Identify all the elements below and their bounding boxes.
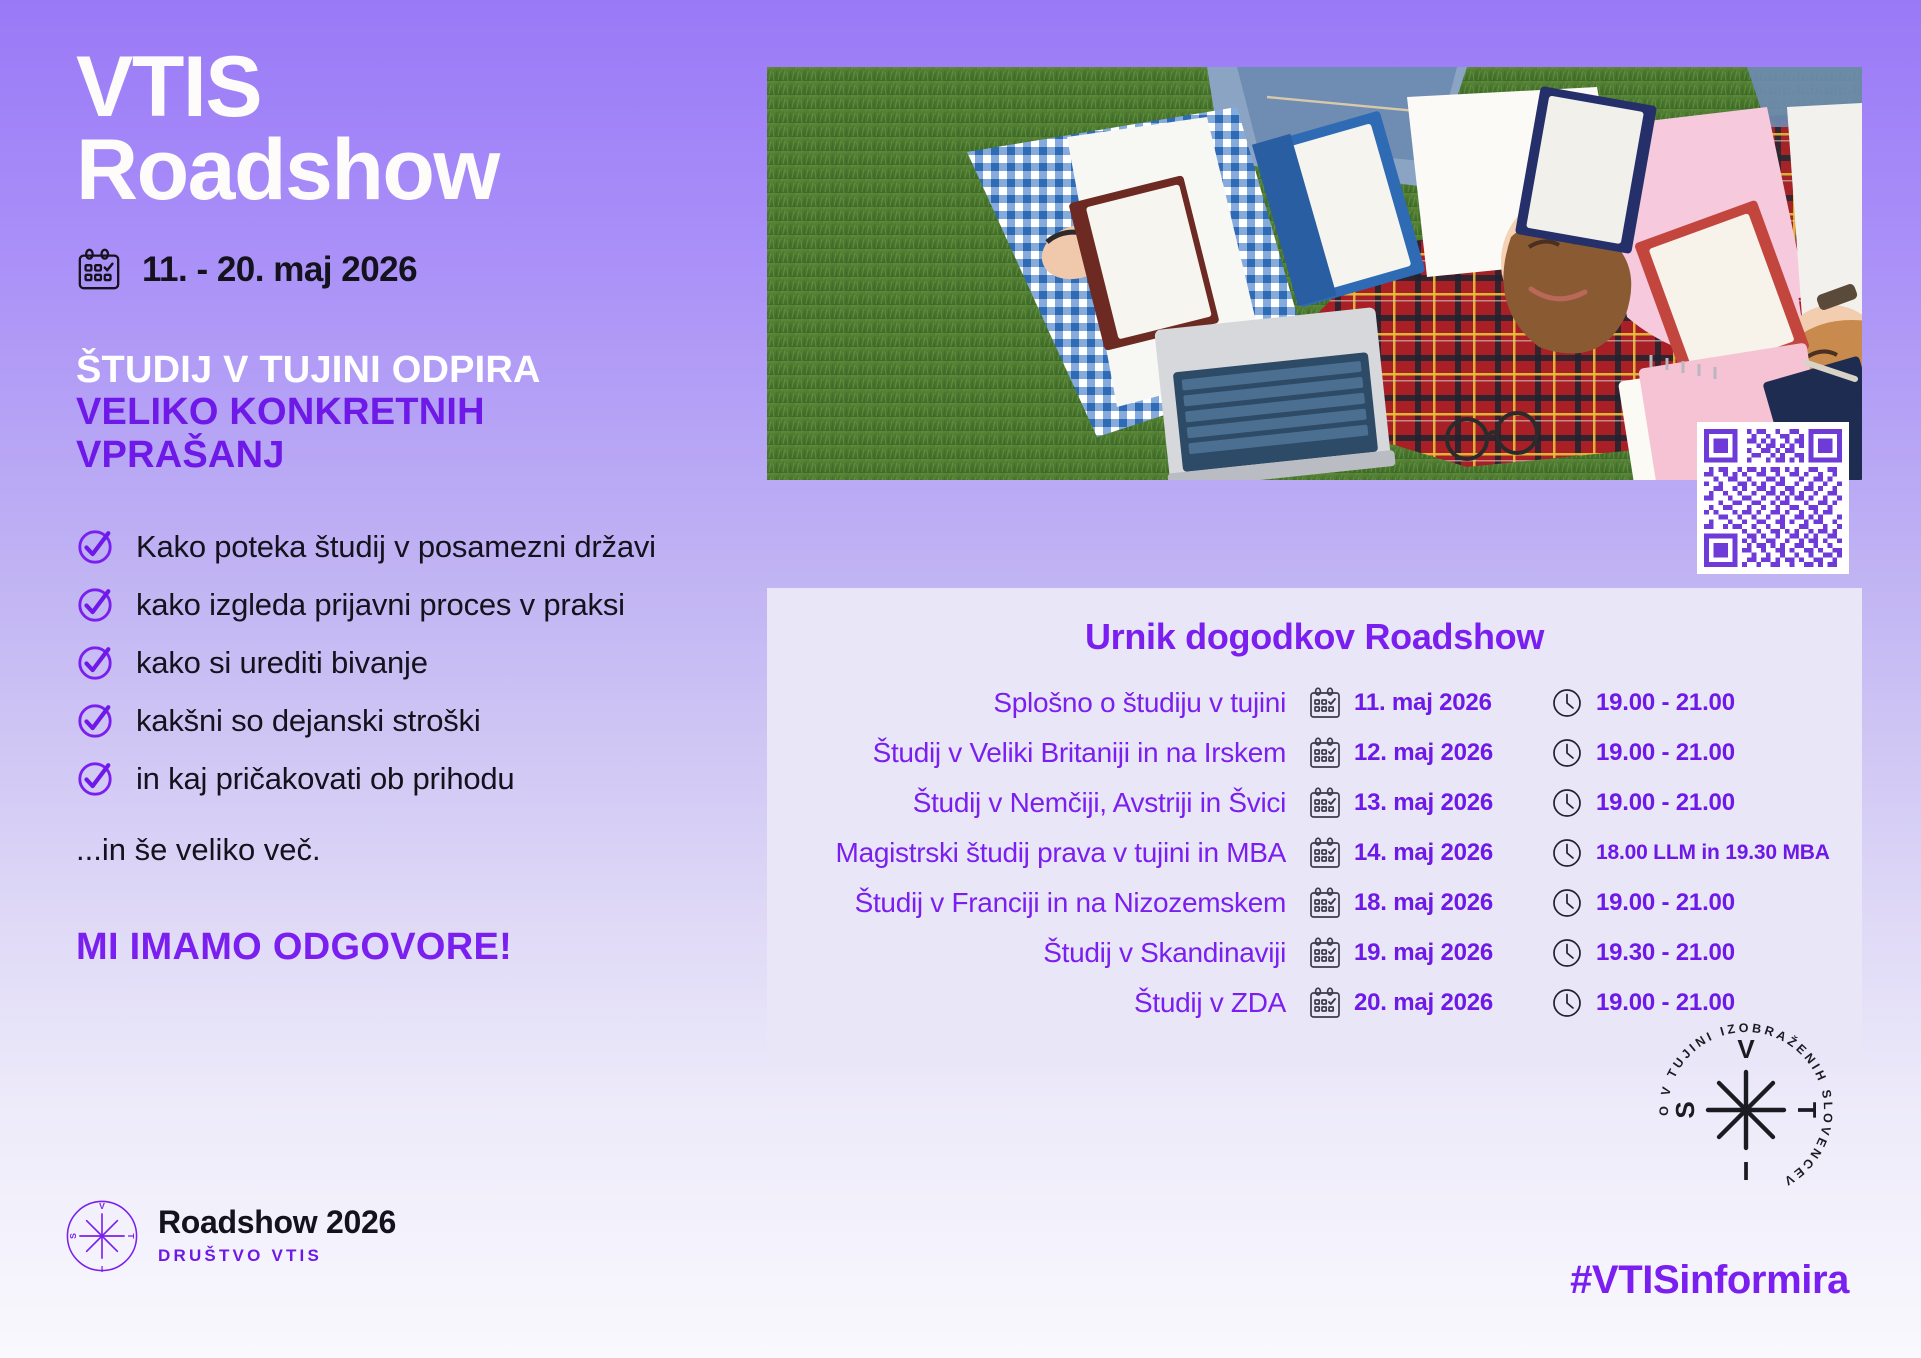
kicker-line-1: ŠTUDIJ V TUJINI ODPIRA (76, 349, 756, 392)
table-row: Študij v Franciji in na Nizozemskem 18. … (767, 878, 1862, 928)
calendar-icon (1308, 986, 1342, 1020)
svg-text:S: S (68, 1233, 78, 1239)
svg-text:I: I (1742, 1156, 1749, 1186)
event-time-cell: 19.00 - 21.00 (1550, 686, 1826, 720)
list-item-label: kakšni so dejanski stroški (136, 703, 481, 739)
event-time: 19.30 - 21.00 (1596, 939, 1735, 967)
clock-icon (1550, 786, 1584, 820)
table-row: Študij v Nemčiji, Avstriji in Švici 13. … (767, 778, 1862, 828)
date-range-label: 11. - 20. maj 2026 (142, 250, 417, 290)
more-text: ...in še veliko več. (76, 832, 756, 868)
check-circle-icon (76, 702, 114, 740)
svg-text:T: T (126, 1233, 136, 1239)
calendar-icon (1308, 786, 1342, 820)
event-date-cell: 20. maj 2026 (1308, 986, 1540, 1020)
event-date: 18. maj 2026 (1354, 889, 1493, 917)
roadshow-label: Roadshow 2026 (158, 1206, 396, 1240)
date-range-row: 11. - 20. maj 2026 (76, 247, 756, 293)
calendar-icon (76, 247, 122, 293)
calendar-icon (1308, 686, 1342, 720)
event-date: 20. maj 2026 (1354, 989, 1493, 1017)
vtis-compass-logo-icon: V T I S (54, 1188, 150, 1284)
event-time-cell: 19.00 - 21.00 (1550, 736, 1826, 770)
event-date: 13. maj 2026 (1354, 789, 1493, 817)
event-date: 12. maj 2026 (1354, 739, 1493, 767)
list-item: kako si urediti bivanje (76, 644, 756, 682)
event-time: 19.00 - 21.00 (1596, 889, 1735, 917)
table-row: Magistrski študij prava v tujini in MBA … (767, 828, 1862, 878)
hashtag-label: #VTISinformira (1570, 1258, 1849, 1303)
check-circle-icon (76, 528, 114, 566)
org-label: DRUŠTVO VTIS (158, 1246, 396, 1266)
title-line-1: VTIS (76, 39, 261, 135)
event-name: Magistrski študij prava v tujini in MBA (836, 837, 1286, 869)
list-item: in kaj pričakovati ob prihodu (76, 760, 756, 798)
schedule-rows: Splošno o študiju v tujini 11. maj 2026 (767, 678, 1862, 1028)
event-date-cell: 14. maj 2026 (1308, 836, 1540, 870)
event-time: 19.00 - 21.00 (1596, 739, 1735, 767)
clock-icon (1550, 736, 1584, 770)
check-circle-icon (76, 760, 114, 798)
event-date: 11. maj 2026 (1354, 689, 1492, 717)
footer-logo-block: V T I S Roadshow 2026 DRUŠTVO VTIS (54, 1188, 396, 1284)
hero-photo (767, 67, 1862, 480)
benefits-checklist: Kako poteka študij v posamezni državi ka… (76, 528, 756, 798)
event-date-cell: 12. maj 2026 (1308, 736, 1540, 770)
svg-text:V: V (1737, 1034, 1755, 1064)
kicker-line-3: VPRAŠANJ (76, 434, 756, 477)
event-name: Študij v Veliki Britaniji in na Irskem (873, 737, 1286, 769)
clock-icon (1550, 936, 1584, 970)
event-date: 19. maj 2026 (1354, 939, 1493, 967)
kicker-line-2: VELIKO KONKRETNIH (76, 391, 756, 434)
calendar-icon (1308, 736, 1342, 770)
list-item: Kako poteka študij v posamezni državi (76, 528, 756, 566)
table-row: Splošno o študiju v tujini 11. maj 2026 (767, 678, 1862, 728)
vtis-round-seal: DRUŠTVO V TUJINI IZOBRAŽENIH SLOVENCEV V… (1646, 1010, 1846, 1210)
table-row: Študij v Veliki Britaniji in na Irskem 1… (767, 728, 1862, 778)
event-date-cell: 18. maj 2026 (1308, 886, 1540, 920)
event-name: Študij v Nemčiji, Avstriji in Švici (913, 787, 1286, 819)
event-name: Študij v Franciji in na Nizozemskem (855, 887, 1286, 919)
event-time: 19.00 - 21.00 (1596, 789, 1735, 817)
event-name: Splošno o študiju v tujini (993, 687, 1286, 719)
schedule-title: Urnik dogodkov Roadshow (767, 588, 1862, 658)
event-time-cell: 19.00 - 21.00 (1550, 786, 1826, 820)
poster-canvas: VTIS Roadshow 11. - 20. maj 2026 ŠTU (0, 0, 1921, 1358)
calendar-icon (1308, 886, 1342, 920)
svg-text:I: I (101, 1264, 103, 1274)
list-item-label: kako izgleda prijavni proces v praksi (136, 587, 625, 623)
svg-text:T: T (1792, 1102, 1822, 1118)
calendar-icon (1308, 836, 1342, 870)
footer-logo-text: Roadshow 2026 DRUŠTVO VTIS (158, 1206, 396, 1266)
list-item: kakšni so dejanski stroški (76, 702, 756, 740)
page-title: VTIS Roadshow (76, 46, 756, 213)
list-item-label: kako si urediti bivanje (136, 645, 428, 681)
event-date-cell: 19. maj 2026 (1308, 936, 1540, 970)
clock-icon (1550, 986, 1584, 1020)
list-item-label: Kako poteka študij v posamezni državi (136, 529, 656, 565)
qr-code[interactable] (1697, 422, 1849, 574)
event-time-cell: 18.00 LLM in 19.30 MBA (1550, 836, 1826, 870)
clock-icon (1550, 836, 1584, 870)
svg-text:V: V (99, 1201, 105, 1211)
calendar-icon (1308, 936, 1342, 970)
event-date-cell: 13. maj 2026 (1308, 786, 1540, 820)
left-column: VTIS Roadshow 11. - 20. maj 2026 ŠTU (76, 46, 756, 969)
table-row: Študij v Skandinaviji 19. maj 2026 (767, 928, 1862, 978)
clock-icon (1550, 686, 1584, 720)
schedule-panel: Urnik dogodkov Roadshow Splošno o študij… (767, 588, 1862, 1058)
event-date: 14. maj 2026 (1354, 839, 1493, 867)
title-line-2: Roadshow (76, 129, 756, 212)
svg-text:S: S (1670, 1101, 1700, 1118)
clock-icon (1550, 886, 1584, 920)
answers-tagline: MI IMAMO ODGOVORE! (76, 926, 756, 969)
check-circle-icon (76, 644, 114, 682)
event-time-cell: 19.30 - 21.00 (1550, 936, 1826, 970)
list-item: kako izgleda prijavni proces v praksi (76, 586, 756, 624)
event-name: Študij v ZDA (1134, 987, 1286, 1019)
event-time: 19.00 - 21.00 (1596, 689, 1735, 717)
event-time: 18.00 LLM in 19.30 MBA (1596, 841, 1830, 865)
check-circle-icon (76, 586, 114, 624)
event-name: Študij v Skandinaviji (1043, 937, 1286, 969)
list-item-label: in kaj pričakovati ob prihodu (136, 761, 514, 797)
event-time-cell: 19.00 - 21.00 (1550, 886, 1826, 920)
event-date-cell: 11. maj 2026 (1308, 686, 1540, 720)
